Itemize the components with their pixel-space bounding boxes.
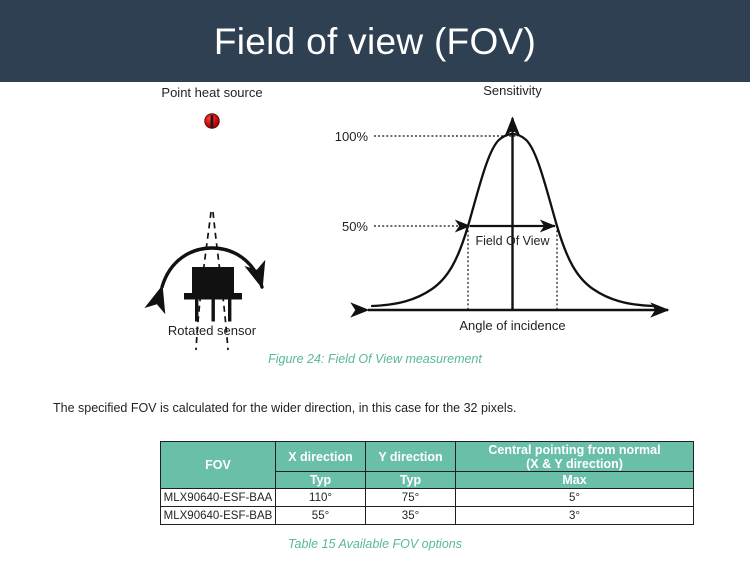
table-caption: Table 15 Available FOV options (0, 537, 750, 551)
x-axis-label: Angle of incidence (459, 318, 565, 333)
tick-label-100: 100% (335, 129, 369, 144)
cell-y-direction: 35° (366, 507, 456, 525)
y-axis-label: Sensitivity (483, 83, 542, 98)
fov-table-wrapper: FOV X direction Y direction Central poin… (160, 441, 694, 525)
header-cell-y: Y direction (366, 442, 456, 472)
cell-part-name: MLX90640-ESF-BAB (161, 507, 276, 525)
fov-figure: Point heat source Rotated sensor S (0, 82, 750, 372)
slide-root: Field of view (FOV) (0, 0, 750, 562)
level-guides (374, 136, 518, 226)
header-central-line1: Central pointing from normal (488, 443, 660, 457)
header-cell-x: X direction (276, 442, 366, 472)
subheader-cell-central-max: Max (456, 472, 694, 489)
point-heat-source-label: Point heat source (161, 85, 262, 100)
rotated-sensor-label: Rotated sensor (168, 323, 257, 338)
heat-source-filament (211, 115, 214, 128)
fov-annotation: Field Of View (475, 234, 550, 248)
page-title: Field of view (FOV) (0, 0, 750, 82)
sensor-package-icon (184, 267, 242, 322)
cell-part-name: MLX90640-ESF-BAA (161, 489, 276, 507)
fov-table: FOV X direction Y direction Central poin… (160, 441, 694, 525)
subheader-cell-y-typ: Typ (366, 472, 456, 489)
cell-central-pointing: 5° (456, 489, 694, 507)
cell-central-pointing: 3° (456, 507, 694, 525)
tick-label-50: 50% (342, 219, 368, 234)
header-central-line2: (X & Y direction) (526, 457, 623, 471)
figure-area: Point heat source Rotated sensor S (0, 82, 750, 372)
header-cell-central: Central pointing from normal (X & Y dire… (456, 442, 694, 472)
cell-y-direction: 75° (366, 489, 456, 507)
table-row: MLX90640-ESF-BAA 110° 75° 5° (161, 489, 694, 507)
table-header-row: FOV X direction Y direction Central poin… (161, 442, 694, 472)
body-paragraph: The specified FOV is calculated for the … (53, 401, 516, 415)
header-cell-fov: FOV (161, 442, 276, 489)
cell-x-direction: 55° (276, 507, 366, 525)
table-row: MLX90640-ESF-BAB 55° 35° 3° (161, 507, 694, 525)
cell-x-direction: 110° (276, 489, 366, 507)
figure-caption: Figure 24: Field Of View measurement (0, 352, 750, 366)
subheader-cell-x-typ: Typ (276, 472, 366, 489)
